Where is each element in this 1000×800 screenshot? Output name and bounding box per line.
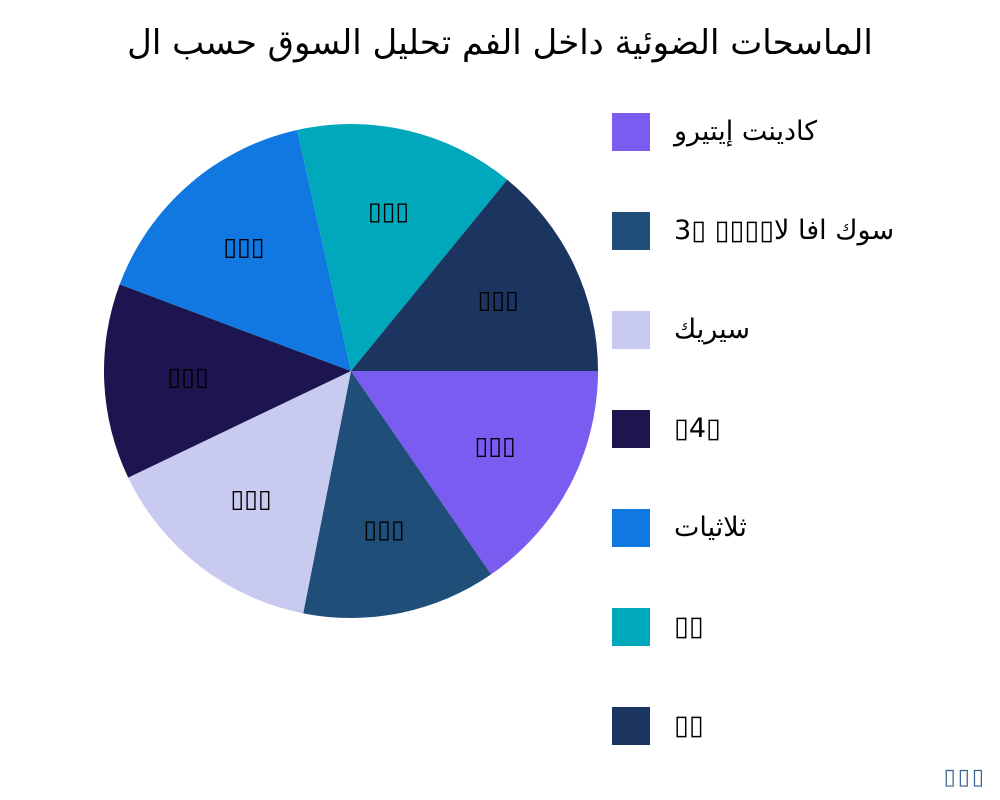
pie-slice-label: ▯▯▯ (167, 362, 208, 391)
pie-slice-label: ▯▯▯ (363, 515, 404, 544)
legend-item-label: ▯▯ (674, 610, 704, 644)
legend-item[interactable]: سوك افا لا▯▯▯▯ ▯3 (612, 211, 894, 251)
pie-slice-label: ▯▯▯ (368, 196, 409, 225)
pie-slice-label: ▯▯▯ (223, 232, 264, 261)
legend: كادينت إيتيروسوك افا لا▯▯▯▯ ▯3سيريك▯4▯ثل… (612, 112, 1000, 772)
legend-color-swatch (612, 212, 650, 250)
pie-chart-svg: ▯▯▯▯▯▯▯▯▯▯▯▯▯▯▯▯▯▯▯▯▯ (104, 124, 598, 618)
pie-slice-label: ▯▯▯ (475, 431, 516, 460)
pie-slice-label: ▯▯▯ (230, 484, 271, 513)
legend-item-label: ▯▯ (674, 709, 704, 743)
legend-item-label: ثلاثيات (674, 511, 747, 545)
legend-color-swatch (612, 509, 650, 547)
legend-color-swatch (612, 311, 650, 349)
legend-color-swatch (612, 707, 650, 745)
legend-item[interactable]: ثلاثيات (612, 508, 747, 548)
legend-item-label: ▯4▯ (674, 412, 721, 446)
pie-slice-label: ▯▯▯ (478, 285, 519, 314)
page-title: الماسحات الضوئية داخل الفم تحليل السوق ح… (0, 8, 1000, 78)
legend-item[interactable]: ▯▯ (612, 706, 704, 746)
legend-item[interactable]: ▯▯ (612, 607, 704, 647)
watermark-text: ▯▯▯ (944, 765, 986, 790)
legend-item[interactable]: كادينت إيتيرو (612, 112, 817, 152)
legend-color-swatch (612, 410, 650, 448)
legend-item-label: سوك افا لا▯▯▯▯ ▯3 (674, 214, 894, 248)
legend-color-swatch (612, 608, 650, 646)
legend-item-label: كادينت إيتيرو (674, 115, 817, 149)
legend-color-swatch (612, 113, 650, 151)
pie-chart: ▯▯▯▯▯▯▯▯▯▯▯▯▯▯▯▯▯▯▯▯▯ (104, 124, 598, 618)
legend-item[interactable]: سيريك (612, 310, 750, 350)
legend-item-label: سيريك (674, 313, 750, 347)
legend-item[interactable]: ▯4▯ (612, 409, 721, 449)
